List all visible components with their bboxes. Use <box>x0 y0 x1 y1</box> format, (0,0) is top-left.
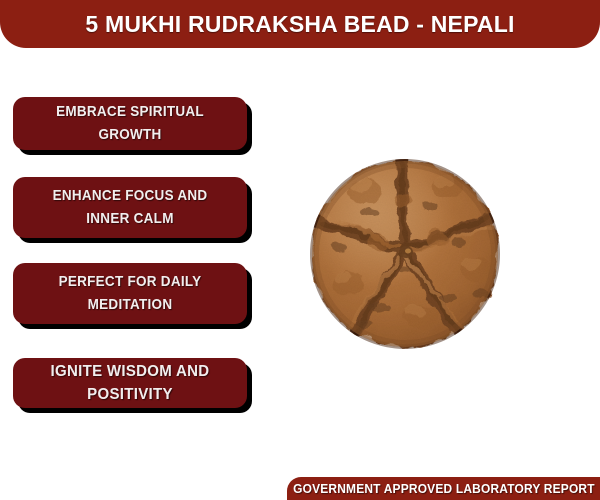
rudraksha-bead-image <box>305 138 505 370</box>
feature-label: PERFECT FOR DAILY MEDITATION <box>30 271 230 316</box>
certification-label: GOVERNMENT APPROVED LABORATORY REPORT <box>293 481 595 496</box>
certification-banner: GOVERNMENT APPROVED LABORATORY REPORT <box>287 477 600 500</box>
rudraksha-bead-illustration <box>305 138 505 370</box>
feature-label: EMBRACE SPIRITUAL GROWTH <box>30 101 230 146</box>
feature-box-enhance-focus-and-inner-calm[interactable]: ENHANCE FOCUS AND INNER CALM <box>13 177 247 238</box>
feature-box-perfect-for-daily-meditation[interactable]: PERFECT FOR DAILY MEDITATION <box>13 263 247 324</box>
feature-box-ignite-wisdom-and-positivity[interactable]: IGNITE WISDOM AND POSITIVITY <box>13 358 247 408</box>
feature-label: IGNITE WISDOM AND POSITIVITY <box>22 360 237 407</box>
feature-box-embrace-spiritual-growth[interactable]: EMBRACE SPIRITUAL GROWTH <box>13 97 247 150</box>
bead-grain <box>312 161 498 347</box>
feature-list: EMBRACE SPIRITUAL GROWTH ENHANCE FOCUS A… <box>0 0 270 500</box>
feature-label: ENHANCE FOCUS AND INNER CALM <box>30 185 230 230</box>
